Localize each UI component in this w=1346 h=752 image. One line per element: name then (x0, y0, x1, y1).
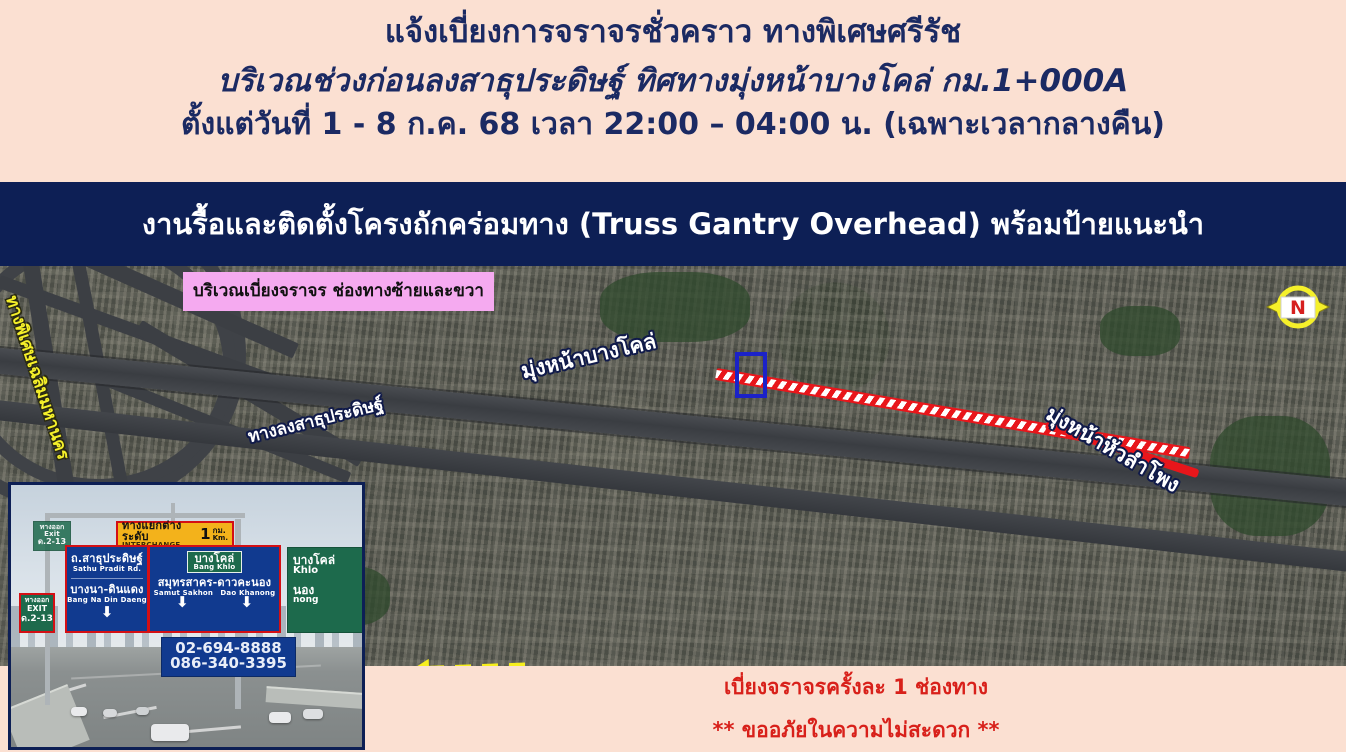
arrow-head-icon (412, 659, 430, 666)
compass-north-letter: N (1290, 297, 1306, 319)
work-description-banner: งานรื้อและติดตั้งโครงถักคร่อมทาง (Truss … (0, 182, 1346, 266)
sathu-pradit-th: ถ.สาธุประดิษฐ์ (67, 553, 147, 564)
header-title-line3: ตั้งแต่วันที่ 1 - 8 ก.ค. 68 เวลา 22:00 –… (181, 109, 1165, 141)
interchange-distance-value: 1 (200, 527, 210, 542)
photo-background-green-sign-right: บางโคล่ Khlo นอง nong (287, 547, 365, 633)
bang-khlo-en: Bang Khlo (194, 564, 236, 571)
hotline-number-2: 086-340-3395 (162, 656, 295, 671)
poster-footer: เบี่ยงจราจรครั้งละ 1 ช่องทาง ** ขออภัยใน… (366, 666, 1346, 752)
exit-sign-code: ด.2-13 (21, 615, 53, 624)
header-title-line2: บริเวณช่วงก่อนลงสาธุประดิษฐ์ ทิศทางมุ่งห… (218, 65, 1128, 98)
photo-vehicle (269, 712, 291, 723)
truss-gantry-location-box (735, 352, 767, 398)
down-arrow-icon-left: ⬇ (176, 597, 189, 608)
work-description-text: งานรื้อและติดตั้งโครงถักคร่อมทาง (Truss … (142, 201, 1204, 247)
bg-green-right-line2: Khlo (293, 566, 365, 576)
photo-vehicle (103, 709, 117, 717)
bg-green-right-line4: nong (293, 596, 365, 605)
bang-na-din-daeng-th: บางนา-ดินแดง (67, 584, 147, 595)
bang-khlo-green-box: บางโคล่ Bang Khlo (187, 551, 243, 573)
photo-gantry-beam (45, 513, 245, 518)
sign-interchange: ทางแยกต่างระดับ INTERCHANGE 1 กม. Km. (116, 521, 234, 547)
sign-exit-d213: ทางออก EXIT ด.2-13 (19, 593, 55, 633)
sathu-pradit-en: Sathu Pradit Rd. (67, 566, 147, 573)
interchange-th: ทางแยกต่างระดับ (122, 520, 200, 542)
poster-header: แจ้งเบี่ยงการจราจรชั่วคราว ทางพิเศษศรีรั… (0, 0, 1346, 182)
photo-vehicle (71, 707, 87, 716)
down-arrow-icon: ⬇ (67, 607, 147, 618)
map-green-area (1100, 306, 1180, 356)
sign-sathu-pradit-blue: ถ.สาธุประดิษฐ์ Sathu Pradit Rd. บางนา-ดิ… (65, 545, 149, 633)
photo-vehicle (136, 707, 149, 715)
interchange-distance-unit-en: Km. (213, 535, 228, 542)
compass-rose-icon: N (1265, 278, 1331, 336)
samut-sakhon-dao-khanong-th: สมุทรสาคร-ดาวคะนอง (150, 577, 279, 588)
header-title-line1: แจ้งเบี่ยงการจราจรชั่วคราว ทางพิเศษศรีรั… (385, 16, 961, 49)
traffic-advisory-poster: แจ้งเบี่ยงการจราจรชั่วคราว ทางพิเศษศรีรั… (0, 0, 1346, 752)
footer-line1: เบี่ยงจราจรครั้งละ 1 ช่องทาง (724, 671, 988, 704)
photo-vehicle (303, 709, 323, 719)
sign-hotline-phone: 02-694-8888 086-340-3395 (161, 637, 296, 677)
reference-photo-inset: ทางออก Exit ด.2-13 บางโคล่ Khlo นอง nong… (8, 482, 365, 750)
exit-sign-th: ทางออก (21, 597, 53, 604)
down-arrow-icon-right: ⬇ (240, 597, 253, 608)
exit-sign-en: EXIT (21, 605, 53, 613)
photo-vehicle (151, 724, 189, 741)
footer-line2: ** ขออภัยในความไม่สะดวก ** (712, 714, 999, 747)
diversion-callout-label: บริเวณเบี่ยงจราจร ช่องทางซ้ายและขวา (183, 272, 494, 311)
sign-bang-khlo-blue: บางโคล่ Bang Khlo สมุทรสาคร-ดาวคะนอง Sam… (148, 545, 281, 633)
